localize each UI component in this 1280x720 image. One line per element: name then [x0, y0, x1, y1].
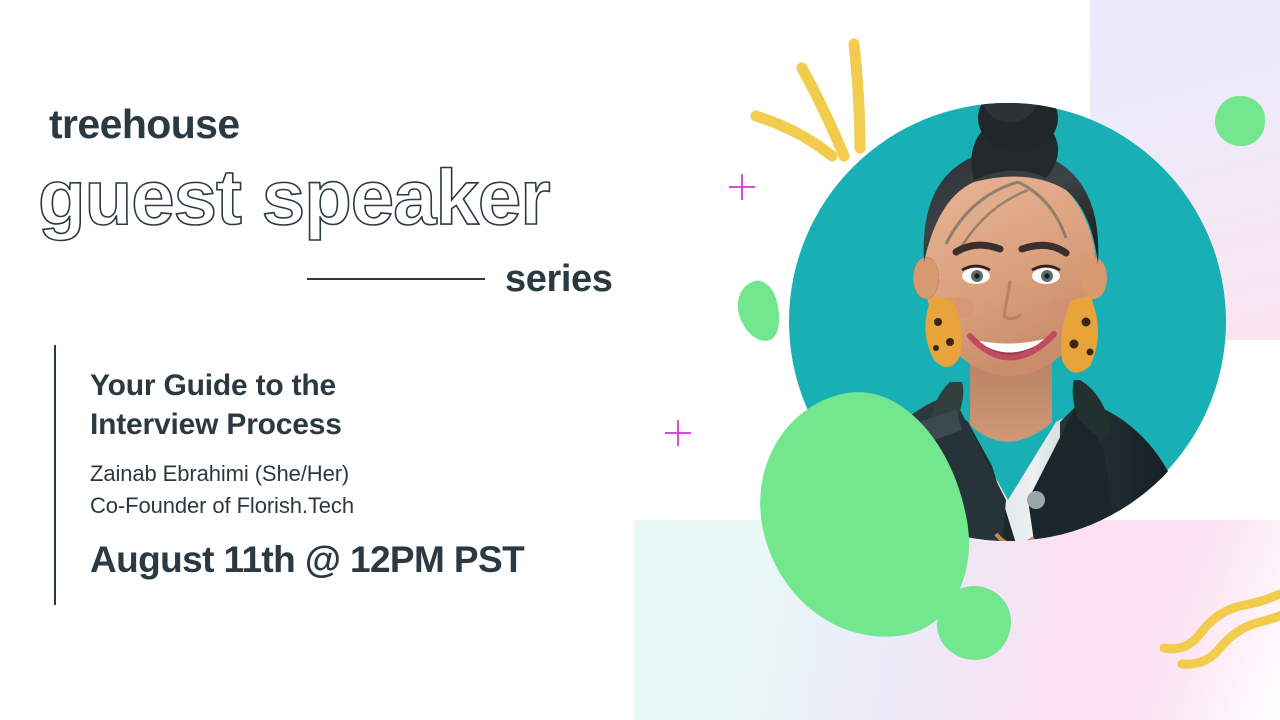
speaker-name: Zainab Ebrahimi (She/Her) — [90, 458, 620, 490]
magenta-plus-icon-top — [729, 174, 755, 200]
event-datetime: August 11th @ 12PM PST — [90, 538, 620, 582]
speaker-role: Co-Founder of Florish.Tech — [90, 490, 620, 522]
talk-title: Your Guide to the Interview Process — [90, 366, 620, 444]
talk-info-block: Your Guide to the Interview Process Zain… — [90, 366, 620, 582]
yellow-squiggle-strokes — [1160, 590, 1280, 670]
series-label: series — [505, 260, 612, 298]
yellow-ray-strokes — [740, 30, 900, 180]
headline-outline-text: guest speaker — [38, 158, 550, 236]
vertical-accent-rule — [54, 345, 56, 605]
magenta-plus-icon-middle — [665, 420, 691, 446]
series-row: series — [307, 250, 625, 308]
green-circle-bottom — [937, 586, 1011, 660]
series-divider-rule — [307, 278, 485, 280]
guest-speaker-promo-slide: treehouse guest speaker series Your Guid… — [0, 0, 1280, 720]
brand-wordmark: treehouse — [49, 104, 240, 145]
